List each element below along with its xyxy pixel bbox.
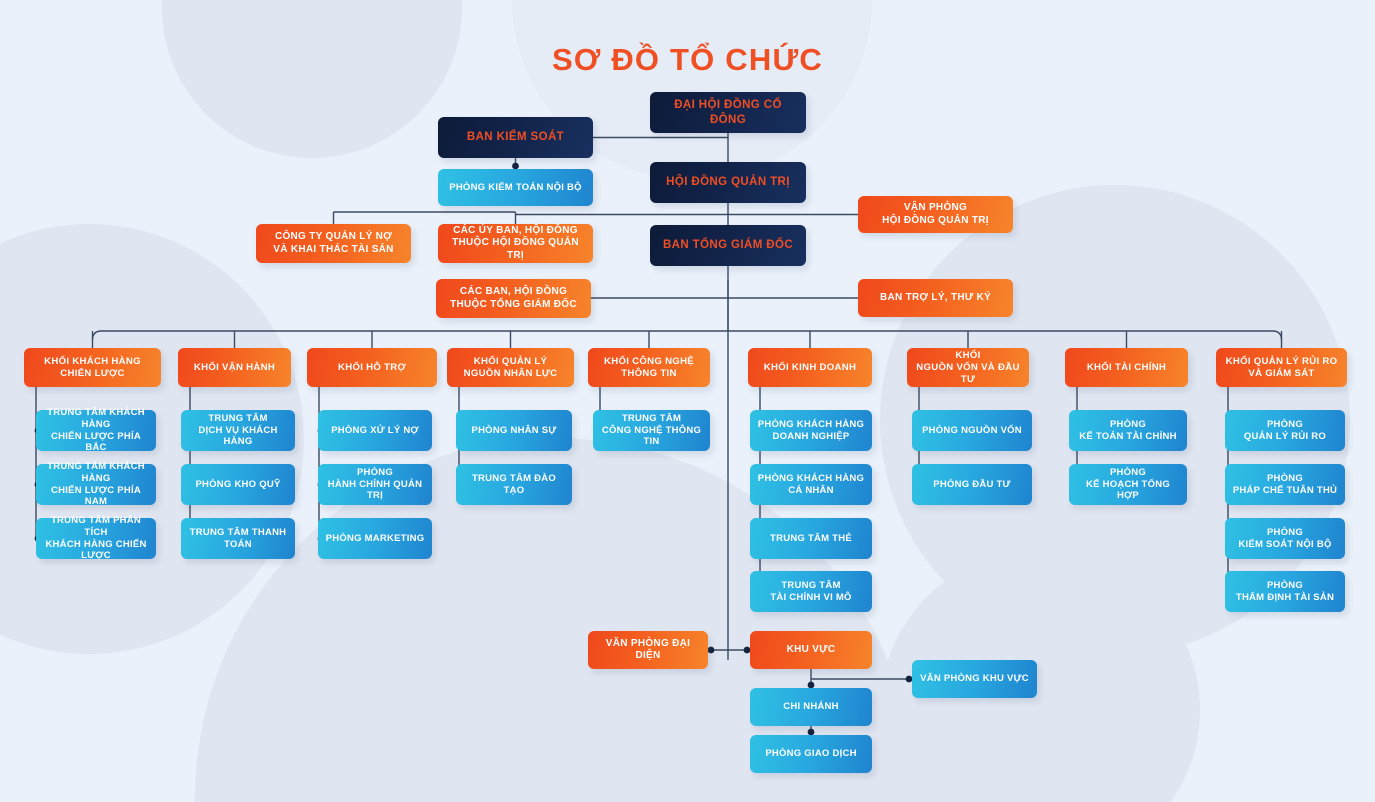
department-phong-khach-hang-doanh-nghiep[interactable]: PHÒNG KHÁCH HÀNG DOANH NGHIỆP (750, 410, 872, 451)
department-trung-tam-tai-chinh-vi-mo[interactable]: TRUNG TÂM TÀI CHÍNH VI MÔ (750, 571, 872, 612)
division-khoi-ho-tro[interactable]: KHỐI HỖ TRỢ (307, 348, 437, 387)
cac-ban-hoi-dong-thuoc-tong-giam-doc-node[interactable]: CÁC BAN, HỘI ĐỒNG THUỘC TỔNG GIÁM ĐỐC (436, 279, 591, 318)
division-khoi-kinh-doanh[interactable]: KHỐI KINH DOANH (748, 348, 872, 387)
department-trung-tam-the[interactable]: TRUNG TÂM THẺ (750, 518, 872, 559)
dai-hoi-dong-co-dong-node[interactable]: ĐẠI HỘI ĐỒNG CỔ ĐÔNG (650, 92, 806, 133)
department-phong-kho-quy[interactable]: PHÒNG KHO QUỸ (181, 464, 295, 505)
department-phong-hanh-chinh-quan-tri[interactable]: PHÒNG HÀNH CHÍNH QUẢN TRỊ (318, 464, 432, 505)
cong-ty-quan-ly-no-va-khai-thac-tai-san-node[interactable]: CÔNG TY QUẢN LÝ NỢ VÀ KHAI THÁC TÀI SẢN (256, 224, 411, 263)
division-khoi-van-hanh[interactable]: KHỐI VẬN HÀNH (178, 348, 291, 387)
ban-tro-ly-thu-ky-node[interactable]: BAN TRỢ LÝ, THƯ KÝ (858, 279, 1013, 317)
khu-vuc-node[interactable]: KHU VỰC (750, 631, 872, 669)
division-khoi-tai-chinh[interactable]: KHỐI TÀI CHÍNH (1065, 348, 1188, 387)
department-phong-khach-hang-ca-nhan[interactable]: PHÒNG KHÁCH HÀNG CÁ NHÂN (750, 464, 872, 505)
department-trung-tam-khach-hang-chien-luoc-phia-bac[interactable]: TRUNG TÂM KHÁCH HÀNG CHIẾN LƯỢC PHÍA BẮC (36, 410, 156, 451)
department-trung-tam-dao-tao[interactable]: TRUNG TÂM ĐÀO TẠO (456, 464, 572, 505)
ban-kiem-soat-node[interactable]: BAN KIỂM SOÁT (438, 117, 593, 158)
department-phong-xu-ly-no[interactable]: PHÒNG XỬ LÝ NỢ (318, 410, 432, 451)
department-trung-tam-khach-hang-chien-luoc-phia-nam[interactable]: TRUNG TÂM KHÁCH HÀNG CHIẾN LƯỢC PHÍA NAM (36, 464, 156, 505)
van-phong-dai-dien-node[interactable]: VĂN PHÒNG ĐẠI DIỆN (588, 631, 708, 669)
chi-nhanh-node[interactable]: CHI NHÁNH (750, 688, 872, 726)
department-phong-phap-che-tuan-thu[interactable]: PHÒNG PHÁP CHẾ TUÂN THỦ (1225, 464, 1345, 505)
van-phong-khu-vuc-node[interactable]: VĂN PHÒNG KHU VỰC (912, 660, 1037, 698)
department-trung-tam-thanh-toan[interactable]: TRUNG TÂM THANH TOÁN (181, 518, 295, 559)
department-trung-tam-dich-vu-khach-hang[interactable]: TRUNG TÂM DỊCH VỤ KHÁCH HÀNG (181, 410, 295, 451)
org-chart-canvas: SƠ ĐỒ TỔ CHỨC ĐẠI HỘI ĐỒNG CỔ ĐÔNGBAN KI… (0, 0, 1375, 802)
department-phong-dau-tu[interactable]: PHÒNG ĐẦU TƯ (912, 464, 1032, 505)
division-khoi-cong-nghe-thong-tin[interactable]: KHỐI CÔNG NGHỆ THÔNG TIN (588, 348, 710, 387)
department-phong-ke-toan-tai-chinh[interactable]: PHÒNG KẾ TOÁN TÀI CHÍNH (1069, 410, 1187, 451)
department-phong-kiem-soat-noi-bo[interactable]: PHÒNG KIỂM SOÁT NỘI BỘ (1225, 518, 1345, 559)
department-phong-quan-ly-rui-ro[interactable]: PHÒNG QUẢN LÝ RỦI RO (1225, 410, 1345, 451)
division-khoi-quan-ly-nguon-nhan-luc[interactable]: KHỐI QUẢN LÝ NGUỒN NHÂN LỰC (447, 348, 574, 387)
phong-giao-dich-node[interactable]: PHÒNG GIAO DỊCH (750, 735, 872, 773)
hoi-dong-quan-tri-node[interactable]: HỘI ĐỒNG QUẢN TRỊ (650, 162, 806, 203)
cac-uy-ban-hoi-dong-thuoc-hoi-dong-quan-tri-node[interactable]: CÁC ỦY BAN, HỘI ĐỒNG THUỘC HỘI ĐỒNG QUẢN… (438, 224, 593, 263)
department-trung-tam-phan-tich-khach-hang-chien-luoc[interactable]: TRUNG TÂM PHÂN TÍCH KHÁCH HÀNG CHIẾN LƯỢ… (36, 518, 156, 559)
department-phong-tham-dinh-tai-san[interactable]: PHÒNG THẨM ĐỊNH TÀI SẢN (1225, 571, 1345, 612)
division-khoi-quan-ly-rui-ro-va-giam-sat[interactable]: KHỐI QUẢN LÝ RỦI RO VÀ GIÁM SÁT (1216, 348, 1347, 387)
department-phong-nguon-von[interactable]: PHÒNG NGUỒN VỐN (912, 410, 1032, 451)
division-khoi-khach-hang-chien-luoc[interactable]: KHỐI KHÁCH HÀNG CHIẾN LƯỢC (24, 348, 161, 387)
department-phong-marketing[interactable]: PHÒNG MARKETING (318, 518, 432, 559)
phong-kiem-toan-noi-bo-node[interactable]: PHÒNG KIỂM TOÁN NỘI BỘ (438, 169, 593, 206)
department-trung-tam-cong-nghe-thong-tin[interactable]: TRUNG TÂM CÔNG NGHỆ THÔNG TIN (593, 410, 710, 451)
ban-tong-giam-doc-node[interactable]: BAN TỔNG GIÁM ĐỐC (650, 225, 806, 266)
van-phong-hoi-dong-quan-tri-node[interactable]: VẬN PHÒNG HỘI ĐỒNG QUẢN TRỊ (858, 196, 1013, 233)
division-khoi-nguon-von-va-dau-tu[interactable]: KHỐI NGUỒN VỐN VÀ ĐẦU TƯ (907, 348, 1029, 387)
department-phong-nhan-su[interactable]: PHÒNG NHÂN SỰ (456, 410, 572, 451)
department-phong-ke-hoach-tong-hop[interactable]: PHÒNG KẾ HOẠCH TỔNG HỢP (1069, 464, 1187, 505)
